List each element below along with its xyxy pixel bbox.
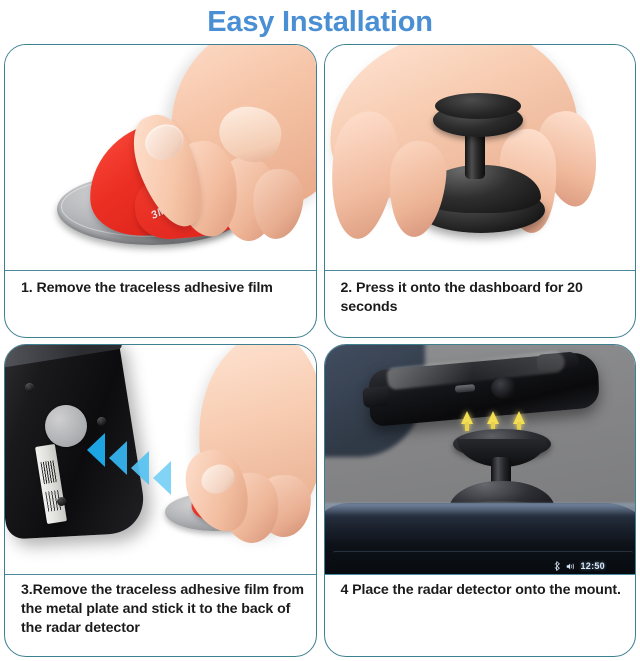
bluetooth-icon — [554, 561, 561, 571]
step-1-image: 3M 3M 3M 3M — [5, 45, 316, 271]
screw-icon — [97, 417, 106, 426]
step-3-scene: ESCORT — [5, 345, 316, 574]
step-panel-4: 12:50 4 Place the radar detector onto th… — [324, 344, 637, 657]
arrow-left-icon — [87, 433, 105, 467]
direction-arrows — [87, 427, 197, 507]
step-2-scene — [325, 45, 636, 270]
barcode — [40, 460, 57, 484]
step-2-image — [325, 45, 636, 271]
clock-text: 12:50 — [580, 561, 605, 571]
dashboard-highlight — [325, 503, 636, 515]
radar-detector-tip — [362, 386, 390, 408]
arrow-left-icon — [131, 451, 149, 485]
arrow-left-icon — [153, 461, 171, 495]
mount-head-top — [435, 93, 521, 119]
arrow-up-stem — [465, 422, 469, 431]
arrow-left-icon — [109, 441, 127, 475]
screw-icon — [25, 383, 34, 392]
step-2-caption: 2. Press it onto the dashboard for 20 se… — [325, 271, 636, 337]
step-1-caption: 1. Remove the traceless adhesive film — [5, 271, 316, 337]
step-1-scene: 3M 3M 3M 3M — [5, 45, 316, 270]
step-3-caption: 3.Remove the traceless adhesive film fro… — [5, 575, 316, 656]
step-panel-1: 3M 3M 3M 3M 1. Remove the traceless adhe… — [4, 44, 317, 338]
step-panel-2: 2. Press it onto the dashboard for 20 se… — [324, 44, 637, 338]
screw-icon — [57, 497, 66, 506]
step-4-image: 12:50 — [325, 345, 636, 575]
step-4-caption: 4 Place the radar detector onto the moun… — [325, 575, 636, 656]
step-panel-3: ESCORT — [4, 344, 317, 657]
head-unit-status-bar: 12:50 — [554, 561, 605, 571]
step-3-image: ESCORT — [5, 345, 316, 575]
page-title: Easy Installation — [0, 0, 640, 44]
volume-icon — [566, 562, 575, 571]
installation-steps-grid: 3M 3M 3M 3M 1. Remove the traceless adhe… — [4, 44, 636, 657]
step-4-scene: 12:50 — [325, 345, 636, 574]
